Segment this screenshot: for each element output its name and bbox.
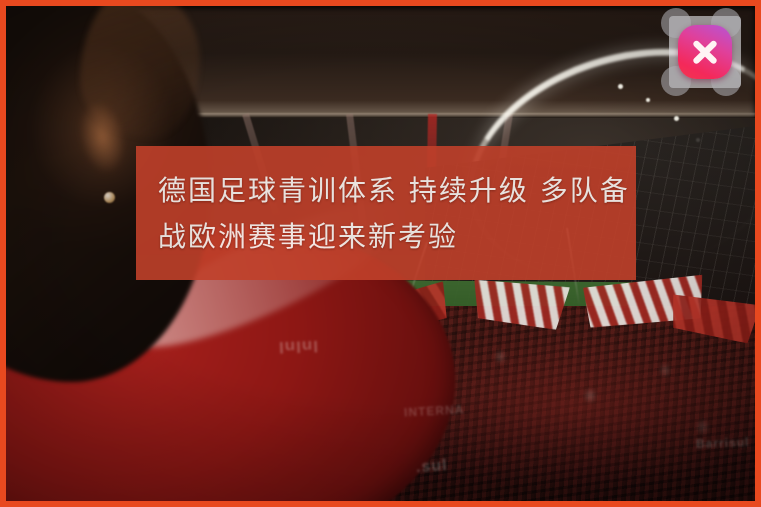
earring bbox=[104, 192, 115, 203]
frame-edge-top bbox=[0, 0, 761, 6]
frame-edge-bottom bbox=[0, 501, 761, 507]
frame-edge-left bbox=[0, 0, 6, 507]
stadium-photo: lnlnl .sul INTERNA Barrisul 德国足球青训体系 持续升… bbox=[6, 6, 755, 501]
light-speck bbox=[618, 84, 623, 89]
headline-line-2: 战欧洲赛事迎来新考验 bbox=[158, 217, 614, 257]
headline-banner: 德国足球青训体系 持续升级 多队备 战欧洲赛事迎来新考验 bbox=[136, 146, 636, 280]
logo-squircle bbox=[678, 25, 732, 79]
frame-edge-right bbox=[755, 0, 761, 507]
fabric-mark-a: lnlnl bbox=[278, 336, 319, 355]
app-logo[interactable] bbox=[669, 16, 741, 88]
x-icon bbox=[688, 35, 722, 69]
light-speck bbox=[674, 116, 679, 121]
fabric-mark-b: .sul bbox=[415, 457, 448, 477]
headline-line-1: 德国足球青训体系 持续升级 多队备 bbox=[158, 171, 614, 211]
fabric-mark-d: Barrisul bbox=[696, 435, 750, 451]
news-poster: lnlnl .sul INTERNA Barrisul 德国足球青训体系 持续升… bbox=[0, 0, 761, 507]
light-speck bbox=[646, 98, 650, 102]
